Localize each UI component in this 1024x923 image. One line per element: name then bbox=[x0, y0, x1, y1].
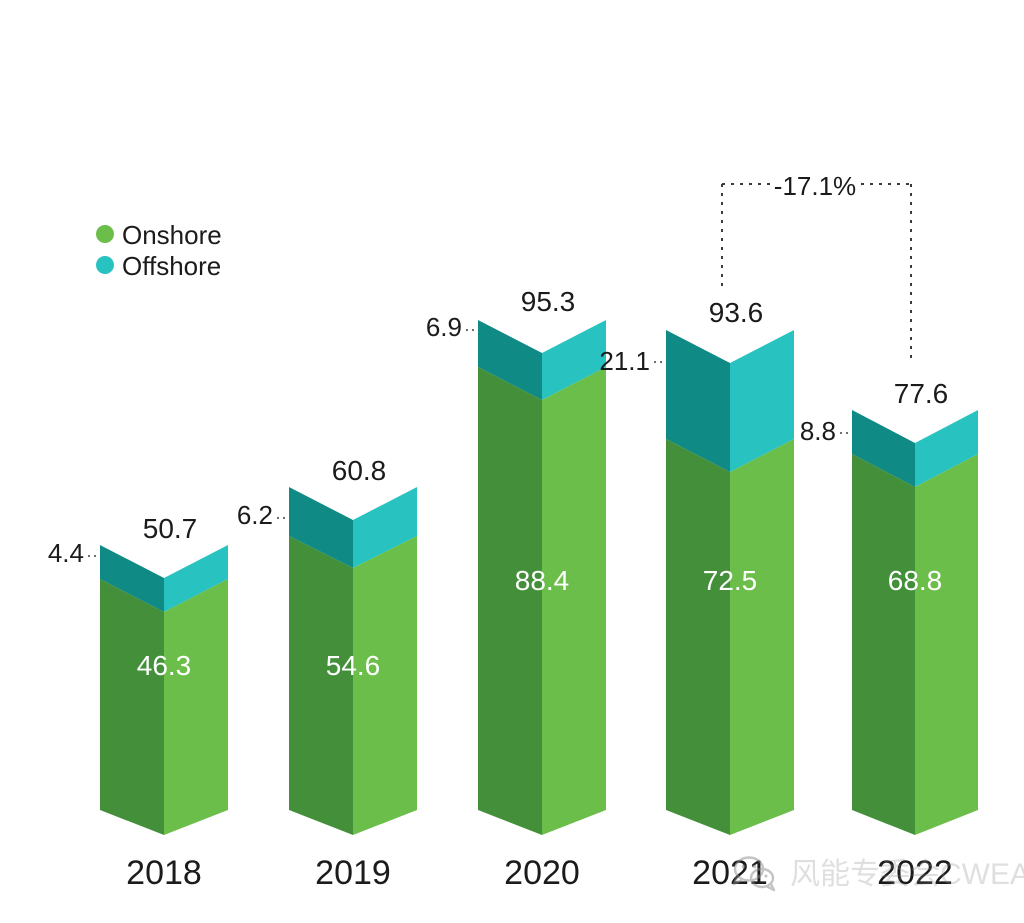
bar-2021-onshore-value: 72.5 bbox=[703, 565, 758, 596]
legend-label-offshore: Offshore bbox=[122, 251, 221, 281]
bar-2021-onshore-right-face bbox=[730, 439, 794, 835]
bar-2018-onshore-right-face bbox=[164, 579, 228, 835]
bar-2022-onshore-value: 68.8 bbox=[888, 565, 943, 596]
bar-group-2018[interactable]: 50.7 46.3 4.4 2018 bbox=[48, 513, 228, 892]
stacked-bar-chart: Onshore Offshore 50.7 46.3 4.4 2018 bbox=[0, 0, 1024, 923]
bar-2021-offshore-value: 21.1 bbox=[599, 346, 650, 376]
axis-label-2019: 2019 bbox=[315, 854, 391, 892]
bar-2022-onshore-left-face bbox=[852, 454, 915, 835]
bar-2020-onshore-value: 88.4 bbox=[515, 565, 570, 596]
axis-label-2018: 2018 bbox=[126, 854, 202, 892]
bar-group-2019[interactable]: 60.8 54.6 6.2 2019 bbox=[237, 455, 417, 892]
bar-2020-offshore-value: 6.9 bbox=[426, 312, 462, 342]
legend-swatch-onshore bbox=[96, 225, 114, 243]
legend-label-onshore: Onshore bbox=[122, 220, 222, 250]
chart-legend: Onshore Offshore bbox=[96, 220, 222, 281]
bar-2019-onshore-value: 54.6 bbox=[326, 650, 381, 681]
axis-label-2020: 2020 bbox=[504, 854, 580, 892]
bar-2019-onshore-left-face bbox=[289, 536, 353, 835]
bar-2020-onshore-left-face bbox=[478, 367, 542, 835]
bar-2022-onshore-right-face bbox=[915, 454, 978, 835]
bar-2021-onshore-left-face bbox=[666, 439, 730, 835]
bar-2019-onshore-right-face bbox=[353, 536, 417, 835]
bar-2022-offshore-value: 8.8 bbox=[800, 416, 836, 446]
bar-2021-total-label: 93.6 bbox=[709, 297, 764, 328]
bar-2019-offshore-value: 6.2 bbox=[237, 500, 273, 530]
watermark-label: 风能专委会CWEA bbox=[790, 858, 1024, 891]
bar-2018-onshore-left-face bbox=[100, 579, 164, 835]
bar-group-2021[interactable]: 93.6 72.5 21.1 2021 bbox=[599, 297, 794, 892]
delta-annotation: -17.1% bbox=[722, 171, 911, 360]
delta-percent-label: -17.1% bbox=[774, 171, 856, 201]
bar-2019-total-label: 60.8 bbox=[332, 455, 387, 486]
bar-2022-total-label: 77.6 bbox=[894, 378, 949, 409]
bar-group-2020[interactable]: 95.3 88.4 6.9 2020 bbox=[426, 286, 606, 892]
bar-2018-onshore-value: 46.3 bbox=[137, 650, 192, 681]
chart-container: Onshore Offshore 50.7 46.3 4.4 2018 bbox=[0, 0, 1024, 923]
watermark: 风能专委会CWEA bbox=[734, 858, 1024, 892]
bar-2018-total-label: 50.7 bbox=[143, 513, 198, 544]
bar-group-2022[interactable]: 77.6 68.8 8.8 2022 bbox=[800, 378, 978, 892]
legend-swatch-offshore bbox=[96, 256, 114, 274]
bar-2020-total-label: 95.3 bbox=[521, 286, 576, 317]
bar-2020-onshore-right-face bbox=[542, 367, 606, 835]
bar-2018-offshore-value: 4.4 bbox=[48, 538, 84, 568]
